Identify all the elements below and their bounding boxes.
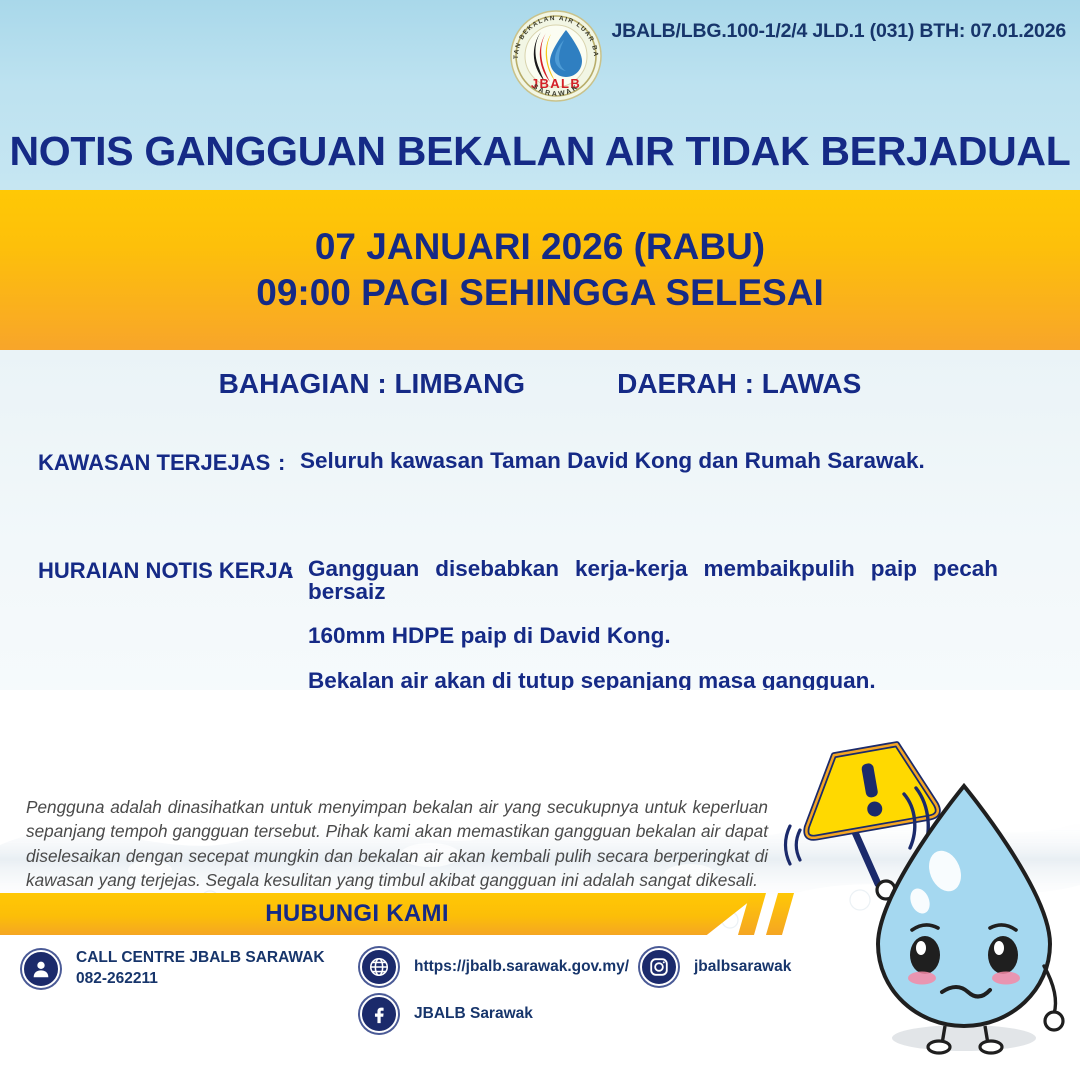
website-url: https://jbalb.sarawak.gov.my/	[414, 957, 629, 978]
contact-banner-label: HUBUNGI KAMI	[265, 900, 449, 928]
bahagian-label: BAHAGIAN : LIMBANG	[219, 368, 525, 400]
person-icon	[22, 950, 60, 988]
water-droplet-mascot	[782, 738, 1080, 1080]
huraian-line-3: Bekalan air akan di tutup sepanjang masa…	[308, 670, 998, 693]
field-kawasan-terjejas: KAWASAN TERJEJAS : Seluruh kawasan Taman…	[0, 450, 1080, 476]
contact-instagram[interactable]: jbalbsarawak	[640, 948, 791, 986]
contact-banner: HUBUNGI KAMI	[0, 893, 760, 935]
region-row: BAHAGIAN : LIMBANG DAERAH : LAWAS	[0, 368, 1080, 400]
huraian-value: Gangguan disebabkan kerja-kerja membaikp…	[308, 558, 998, 692]
jbalb-logo: JBALB JABATAN BEKALAN AIR LUAR BANDAR SA…	[504, 6, 608, 106]
globe-icon	[360, 948, 398, 986]
contact-facebook[interactable]: JBALB Sarawak	[360, 995, 533, 1033]
page-title: NOTIS GANGGUAN BEKALAN AIR TIDAK BERJADU…	[0, 128, 1080, 175]
kawasan-label: KAWASAN TERJEJAS	[38, 450, 278, 476]
huraian-line-2: 160mm HDPE paip di David Kong.	[308, 625, 998, 648]
instagram-handle: jbalbsarawak	[694, 957, 791, 978]
call-centre-title: CALL CENTRE JBALB SARAWAK	[76, 949, 325, 966]
notice-poster: JBALB/LBG.100-1/2/4 JLD.1 (031) BTH: 07.…	[0, 0, 1080, 1080]
huraian-colon: :	[286, 558, 308, 584]
disclaimer-text: Pengguna adalah dinasihatkan untuk menyi…	[26, 795, 768, 893]
reference-number: JBALB/LBG.100-1/2/4 JLD.1 (031) BTH: 07.…	[612, 20, 1066, 43]
contact-banner-wrapper: HUBUNGI KAMI	[0, 893, 830, 935]
notice-time: 09:00 PAGI SEHINGGA SELESAI	[256, 270, 823, 316]
daerah-label: DAERAH : LAWAS	[617, 368, 861, 400]
contact-website[interactable]: https://jbalb.sarawak.gov.my/	[360, 948, 629, 986]
call-centre-number: 082-262211	[76, 969, 325, 990]
facebook-page: JBALB Sarawak	[414, 1004, 533, 1025]
kawasan-colon: :	[278, 450, 300, 476]
field-huraian-notis-kerja: HURAIAN NOTIS KERJA : Gangguan disebabka…	[0, 558, 1080, 692]
kawasan-value: Seluruh kawasan Taman David Kong dan Rum…	[300, 450, 925, 473]
notice-date: 07 JANUARI 2026 (RABU)	[315, 224, 765, 270]
date-band: 07 JANUARI 2026 (RABU) 09:00 PAGI SEHING…	[0, 190, 1080, 350]
instagram-icon	[640, 948, 678, 986]
poster-header: JBALB/LBG.100-1/2/4 JLD.1 (031) BTH: 07.…	[0, 0, 1080, 190]
facebook-icon	[360, 995, 398, 1033]
huraian-line-1: Gangguan disebabkan kerja-kerja membaikp…	[308, 558, 998, 603]
contact-call-centre[interactable]: CALL CENTRE JBALB SARAWAK 082-262211	[22, 948, 325, 990]
huraian-label: HURAIAN NOTIS KERJA	[38, 558, 286, 584]
call-centre-text: CALL CENTRE JBALB SARAWAK 082-262211	[76, 948, 325, 990]
